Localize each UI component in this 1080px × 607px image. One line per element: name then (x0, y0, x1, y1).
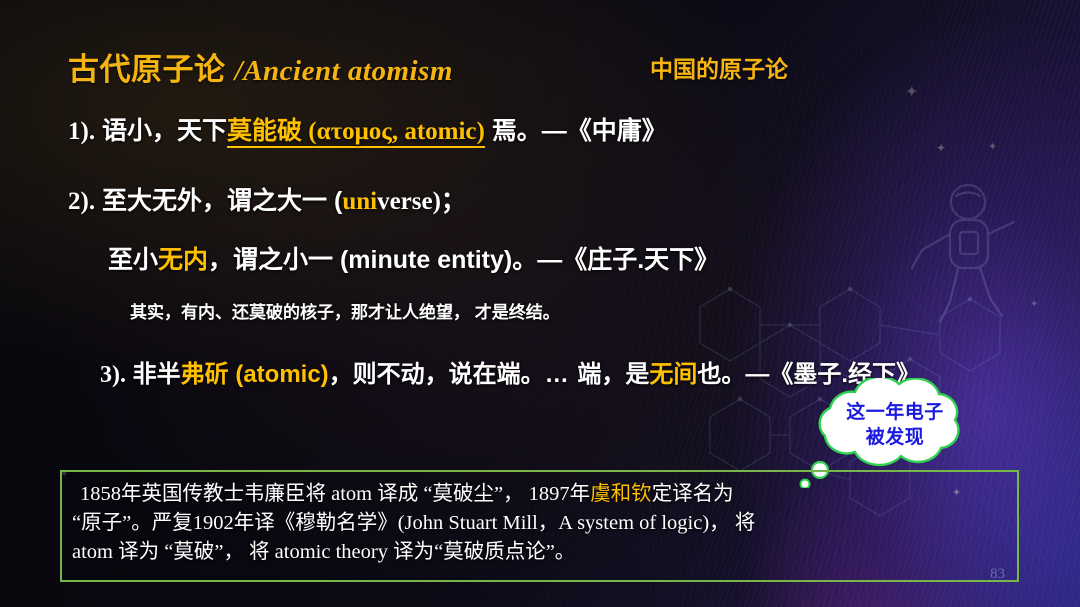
slide-subtitle: 中国的原子论 (650, 50, 788, 84)
slide-root: ✦ ✦ ✦ ✦ ✦ ✦ 古代原子论 /Ancient atomism 中国的原子… (0, 0, 1080, 607)
slide-title-en: /Ancient atomism (235, 55, 453, 87)
line-5-highlight-a: 弗斫 (atomic) (181, 361, 329, 388)
line-3-part-a: 至小 (108, 246, 158, 274)
slide-title-cn: 古代原子论 (68, 52, 226, 87)
cloud-callout-line-1: 这一年电子 (788, 400, 1002, 425)
footnote-row-1: 1858年英国传教士韦廉臣将 atom 译成 “莫破尘”， 1897年虞和钦定译… (72, 480, 1006, 509)
line-2-part-a: 至大无外，谓之大一 ( (102, 187, 342, 215)
line-2-highlight: uni (342, 188, 377, 215)
footnote-text: 1858年英国传教士韦廉臣将 atom 译成 “莫破尘”， 1897年虞和钦定译… (64, 474, 1014, 578)
footnote-row-1-a: 1858年英国传教士韦廉臣将 atom 译成 “莫破尘”， 1897年 (80, 483, 590, 505)
line-3-highlight: 无内 (158, 246, 208, 274)
footnote-row-2: “原子”。严复1902年译《穆勒名学》(John Stuart Mill，A s… (72, 509, 1006, 538)
body-line-3: 至小无内，谓之小一 (minute entity)。—《庄子.天下》 (108, 240, 719, 276)
body-annotation: 其实，有内、还莫破的核子，那才让人绝望， 才是终结。 (130, 298, 560, 323)
cloud-callout-line-2: 被发现 (788, 425, 1002, 450)
line-5-part-c: 端，是 (577, 361, 649, 388)
line-2-number: 2). (68, 188, 95, 215)
line-1-number: 1). (68, 118, 95, 145)
line-1-highlight: 莫能破 (ατομος, atomic) (227, 118, 485, 148)
line-3-part-b: ，谓之小一 (minute entity)。—《庄子.天下》 (208, 246, 719, 274)
footnote-row-3: atom 译为 “莫破”， 将 atomic theory 译为“莫破质点论”。 (72, 538, 1006, 567)
line-1-part-b: 焉。—《中庸》 (492, 117, 667, 145)
line-5-part-b: ，则不动，说在端。 (329, 361, 545, 388)
line-5-number: 3). (100, 362, 126, 388)
line-5-part-a: 非半 (133, 361, 181, 388)
body-line-2: 2). 至大无外，谓之大一 (universe)； (68, 181, 466, 217)
slide-content: 古代原子论 /Ancient atomism 中国的原子论 1). 语小，天下莫… (0, 0, 1080, 607)
line-5-ellipsis: … (545, 361, 571, 388)
footnote-row-1-highlight: 虞和钦 (590, 483, 652, 505)
slide-title: 古代原子论 /Ancient atomism (68, 44, 453, 89)
line-1-part-a: 语小，天下 (102, 117, 227, 145)
line-2-part-b: verse)； (377, 188, 466, 215)
line-5-highlight-b: 无间 (649, 361, 697, 388)
page-number: 83 (990, 566, 1005, 583)
footnote-row-1-b: 定译名为 (652, 483, 734, 505)
cloud-callout-text: 这一年电子 被发现 (788, 400, 1002, 450)
body-line-1: 1). 语小，天下莫能破 (ατομος, atomic) 焉。—《中庸》 (68, 111, 667, 147)
